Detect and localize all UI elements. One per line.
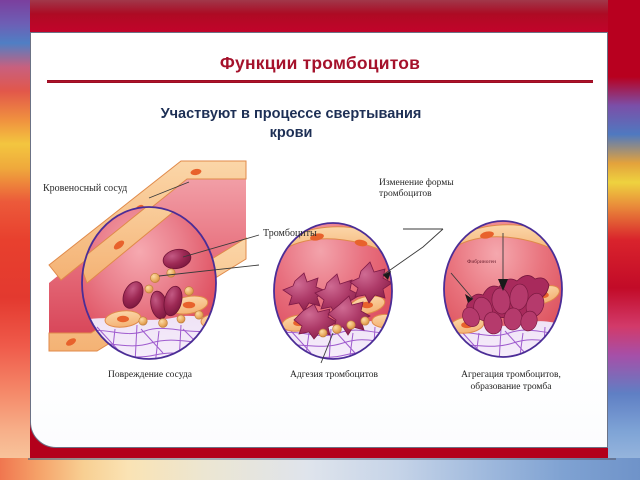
frame-top-sheen — [0, 0, 640, 14]
frame-top-band — [0, 0, 640, 34]
label-fibrinogen: Фибриноген — [467, 259, 496, 266]
diagram-adhesion — [271, 219, 398, 365]
slide-content-panel: Функции тромбоцитов Участвуют в процессе… — [30, 32, 608, 448]
platelet-function-illustration: Кровеносный сосуд Тромбоциты Изменение ф… — [31, 33, 608, 448]
label-blood-vessel: Кровеносный сосуд — [43, 183, 127, 195]
frame-left-gradient-strip — [0, 0, 30, 480]
frame-right-gradient-strip — [608, 0, 640, 480]
frame-bottom-rule — [28, 458, 616, 460]
label-shape-change: Изменение формы тромбоцитов — [379, 178, 454, 200]
caption-damage: Повреждение сосуда — [69, 370, 231, 382]
frame-bottom-gradient-strip — [0, 458, 640, 480]
caption-aggregation: Агрегация тромбоцитов, образование тромб… — [423, 370, 599, 393]
label-platelets: Тромбоциты — [263, 228, 317, 240]
caption-adhesion: Адгезия тромбоцитов — [253, 370, 415, 382]
